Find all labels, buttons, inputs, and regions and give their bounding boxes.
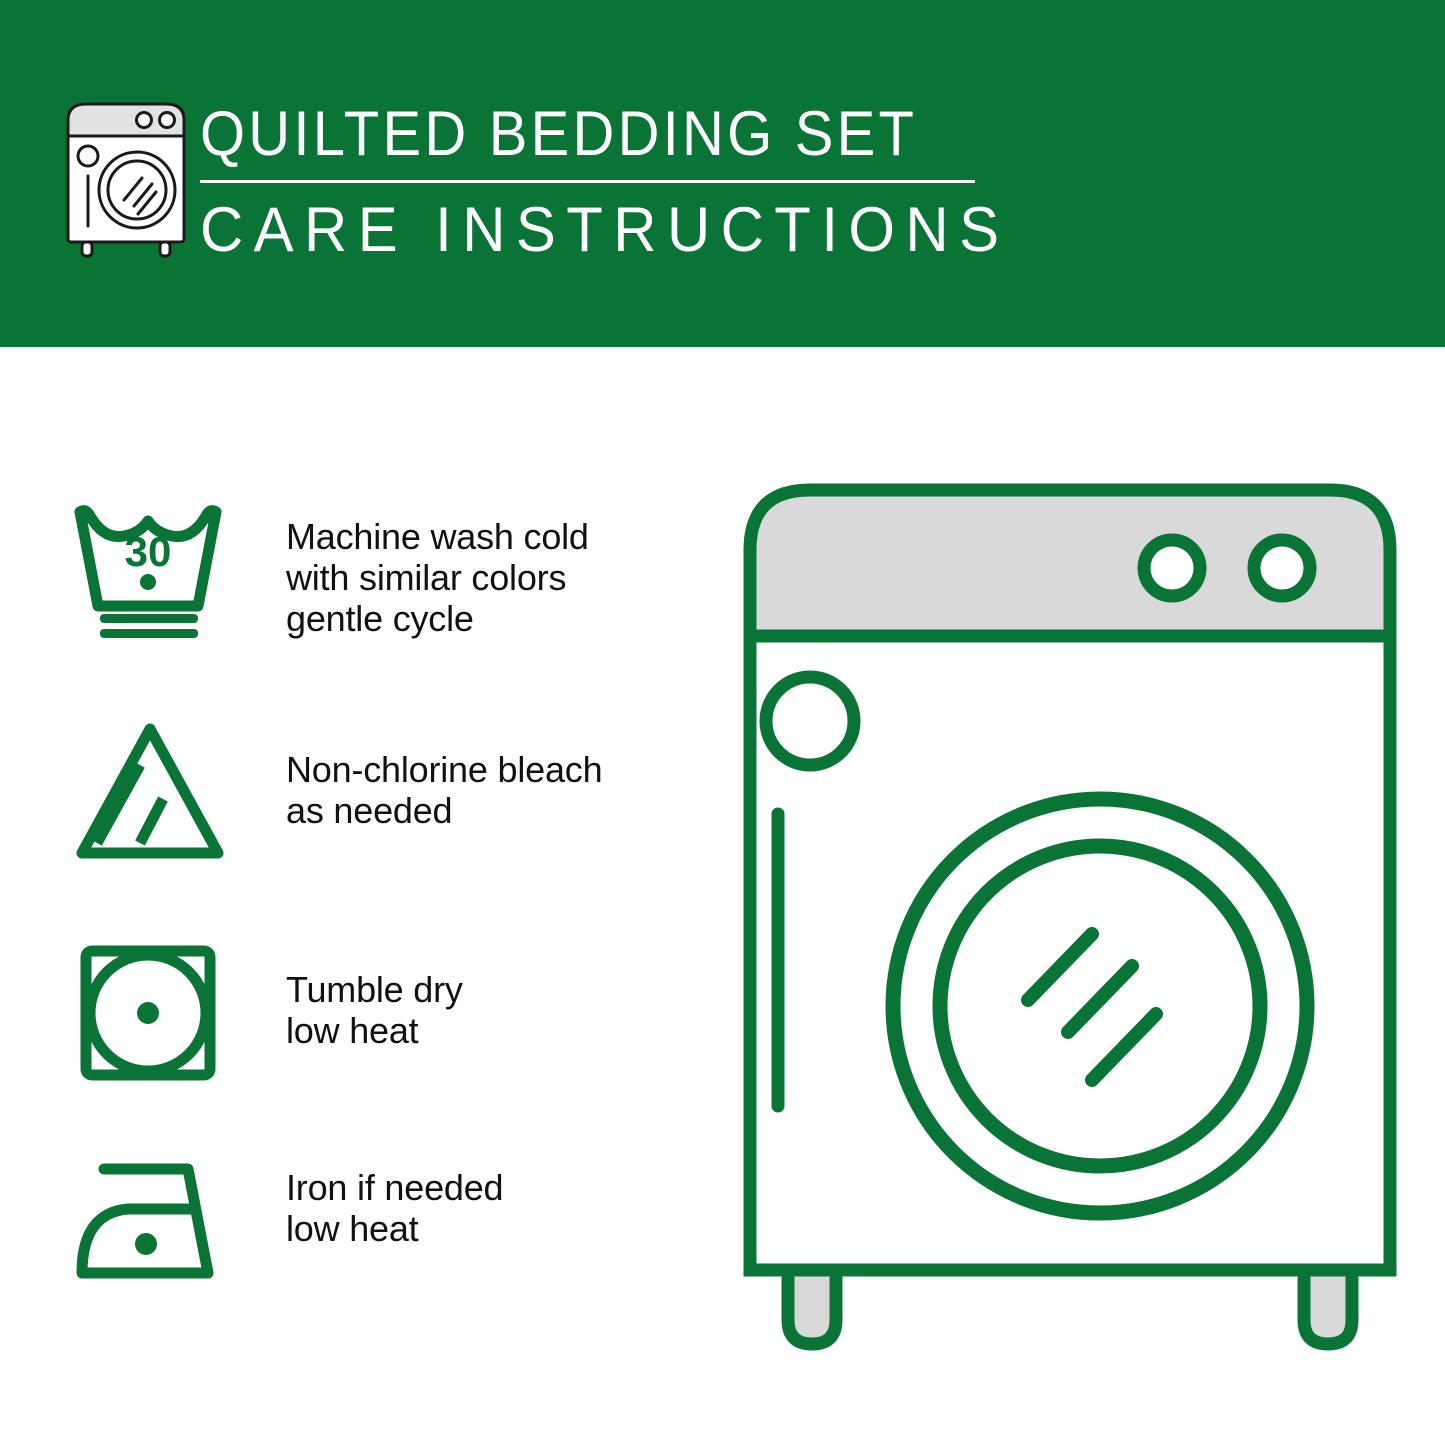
washing-machine-illustration xyxy=(720,460,1420,1360)
control-knob-right xyxy=(1254,540,1310,596)
wash-temperature-label: 30 xyxy=(125,528,172,575)
tumble-dry-low-icon xyxy=(70,939,230,1094)
care-item-text: Non-chlorine bleach as needed xyxy=(286,717,602,831)
page-header: QUILTED BEDDING SET CARE INSTRUCTIONS xyxy=(0,0,1445,347)
care-item-tumble-dry: Tumble dry low heat xyxy=(70,939,690,1094)
care-item-bleach: Non-chlorine bleach as needed xyxy=(70,717,690,872)
page-title: QUILTED BEDDING SET xyxy=(200,96,1286,172)
care-item-text: Machine wash cold with similar colors ge… xyxy=(286,494,589,639)
care-item-text: Tumble dry low heat xyxy=(286,939,463,1051)
leg-right xyxy=(1304,1270,1352,1344)
non-chlorine-bleach-triangle-icon xyxy=(70,717,230,872)
title-divider xyxy=(200,180,975,183)
indicator-knob xyxy=(766,677,854,765)
leg-left xyxy=(788,1270,836,1344)
header-titles: QUILTED BEDDING SET CARE INSTRUCTIONS xyxy=(200,96,1380,267)
page-subtitle: CARE INSTRUCTIONS xyxy=(200,193,1321,267)
care-instructions-page: QUILTED BEDDING SET CARE INSTRUCTIONS 30 xyxy=(0,0,1445,1445)
care-item-text: Iron if needed low heat xyxy=(286,1147,503,1249)
iron-low-heat-icon xyxy=(70,1147,230,1302)
washing-machine-logo-icon xyxy=(64,100,188,258)
control-knob-left xyxy=(1144,540,1200,596)
care-item-iron: Iron if needed low heat xyxy=(70,1147,690,1302)
care-item-machine-wash: 30 Machine wash cold with similar colors… xyxy=(70,494,690,649)
care-instruction-list: 30 Machine wash cold with similar colors… xyxy=(0,347,700,1445)
wash-tub-30-icon: 30 xyxy=(70,494,230,649)
